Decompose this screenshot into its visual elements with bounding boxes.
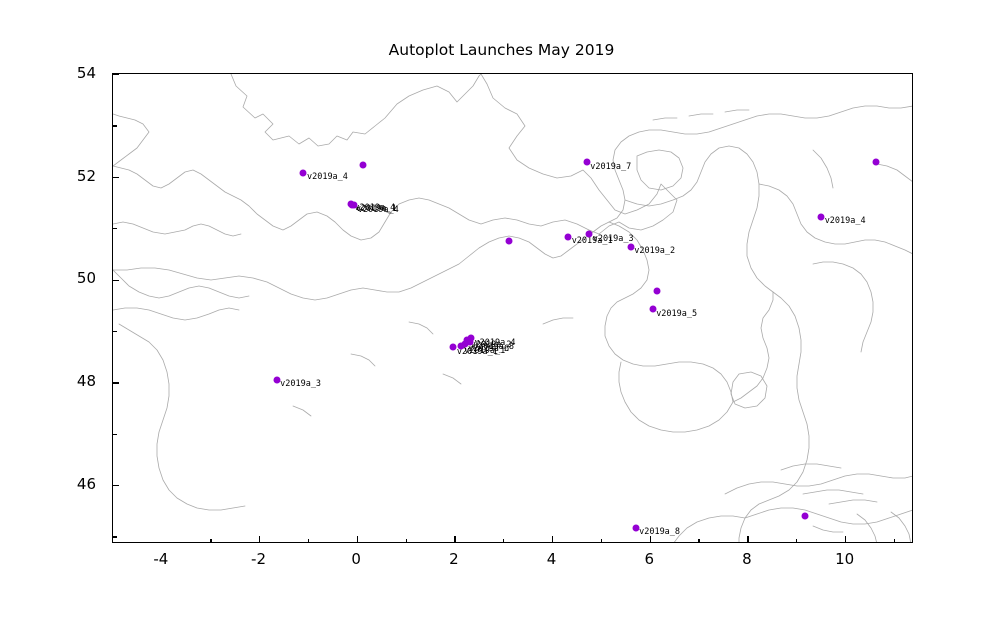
ytick-label: 46: [0, 475, 96, 493]
xtick-minor: [894, 539, 895, 543]
scatter-points-layer: v2019a_4v2019a_4v2019a_1v2019a_4v2019a_7…: [113, 74, 913, 543]
page-title: Autoplot Launches May 2019: [0, 41, 1003, 59]
scatter-point[interactable]: [583, 159, 590, 166]
scatter-point[interactable]: [872, 159, 879, 166]
scatter-point[interactable]: [802, 512, 809, 519]
xtick-label: 2: [449, 550, 459, 568]
xtick-minor: [796, 539, 797, 543]
xtick-minor: [308, 539, 309, 543]
scatter-point-label: v2019a_2: [634, 246, 675, 256]
ytick-major: [113, 74, 119, 75]
xtick-minor: [210, 539, 211, 543]
figure-canvas: Autoplot Launches May 2019: [0, 0, 1003, 633]
scatter-point-label: v2019a_8: [639, 527, 680, 537]
scatter-point[interactable]: [586, 231, 593, 238]
ytick-major: [113, 382, 119, 383]
ytick-label: 54: [0, 64, 96, 82]
scatter-point[interactable]: [565, 233, 572, 240]
scatter-point[interactable]: [653, 287, 660, 294]
scatter-point[interactable]: [632, 524, 639, 531]
scatter-point[interactable]: [457, 343, 464, 350]
ytick-minor: [113, 331, 117, 332]
xtick-label: 6: [644, 550, 654, 568]
scatter-point[interactable]: [300, 169, 307, 176]
scatter-point-label: v2019a_3: [593, 234, 634, 244]
ytick-label: 50: [0, 269, 96, 287]
xtick-major: [357, 536, 358, 542]
ytick-minor: [113, 536, 117, 537]
xtick-label: 0: [351, 550, 361, 568]
xtick-major: [454, 536, 455, 542]
scatter-point-label: v2019a_4: [358, 205, 399, 215]
xtick-label: -2: [251, 550, 266, 568]
map-plot-area[interactable]: v2019a_4v2019a_4v2019a_1v2019a_4v2019a_7…: [112, 73, 913, 543]
scatter-point[interactable]: [351, 202, 358, 209]
scatter-point[interactable]: [450, 344, 457, 351]
scatter-point-label: v2019a_1: [464, 346, 505, 356]
xtick-major: [845, 536, 846, 542]
xtick-minor: [698, 539, 699, 543]
ytick-major: [113, 177, 119, 178]
xtick-major: [552, 536, 553, 542]
ytick-label: 52: [0, 167, 96, 185]
xtick-major: [259, 536, 260, 542]
scatter-point-label: v2019a_4: [825, 216, 866, 226]
ytick-minor: [113, 125, 117, 126]
xtick-label: 4: [547, 550, 557, 568]
scatter-point[interactable]: [273, 376, 280, 383]
xtick-minor: [601, 539, 602, 543]
scatter-point[interactable]: [627, 243, 634, 250]
ytick-minor: [113, 434, 117, 435]
scatter-point-label: v2019a_5: [656, 309, 697, 319]
xtick-minor: [503, 539, 504, 543]
scatter-point-label: v2019a_7: [590, 162, 631, 172]
ytick-label: 48: [0, 372, 96, 390]
scatter-point-label: v2019a_3: [280, 379, 321, 389]
ytick-major: [113, 280, 119, 281]
xtick-major: [650, 536, 651, 542]
scatter-point[interactable]: [818, 213, 825, 220]
scatter-point[interactable]: [649, 306, 656, 313]
ytick-major: [113, 485, 119, 486]
xtick-major: [747, 536, 748, 542]
xtick-minor: [406, 539, 407, 543]
scatter-point[interactable]: [360, 162, 367, 169]
scatter-point-label: v2019a_4: [307, 172, 348, 182]
ytick-minor: [113, 228, 117, 229]
xtick-label: 10: [835, 550, 854, 568]
scatter-point[interactable]: [505, 237, 512, 244]
xtick-label: -4: [153, 550, 168, 568]
xtick-label: 8: [742, 550, 752, 568]
